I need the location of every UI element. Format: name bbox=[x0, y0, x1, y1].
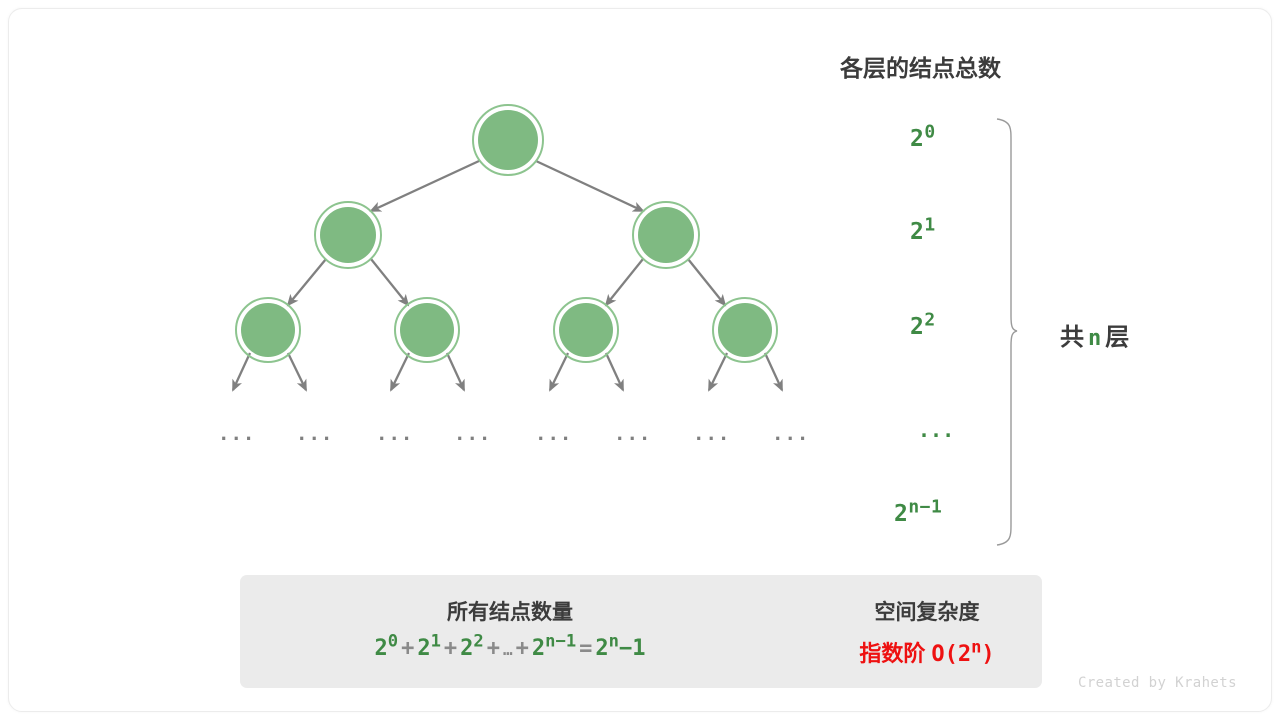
formula-plus: + bbox=[513, 636, 532, 661]
tree-ellipsis: ... bbox=[772, 423, 809, 445]
formula-equals: = bbox=[576, 636, 595, 661]
total-layers-label: 共n层 bbox=[1060, 317, 1129, 352]
tree-ellipsis: ... bbox=[376, 423, 413, 445]
level-label-ellipsis: ... bbox=[918, 418, 954, 442]
tree-ellipsis: ... bbox=[535, 423, 572, 445]
level-label-1: 21 bbox=[910, 219, 936, 245]
complexity-bigo: O(2n) bbox=[925, 642, 994, 667]
level-label-2: 22 bbox=[910, 314, 936, 340]
panel-right-title: 空间复杂度 bbox=[812, 596, 1042, 626]
layer-variable: n bbox=[1084, 326, 1105, 351]
summary-panel bbox=[240, 575, 1042, 688]
panel-left-title: 所有结点数量 bbox=[240, 596, 780, 626]
panel-formula: 20+21+22+…+2n−1=2n−1 bbox=[240, 636, 780, 661]
tree-ellipsis: ... bbox=[296, 423, 333, 445]
tree-ellipsis: ... bbox=[693, 423, 730, 445]
formula-term-last: 2n−1 bbox=[532, 636, 576, 661]
formula-term-1: 21 bbox=[417, 636, 441, 661]
formula-plus: + bbox=[441, 636, 460, 661]
level-label-last: 2n−1 bbox=[894, 501, 942, 527]
formula-term-2: 22 bbox=[460, 636, 484, 661]
levels-column-title: 各层的结点总数 bbox=[840, 49, 1001, 83]
formula-ellipsis: … bbox=[503, 640, 513, 659]
level-label-0: 20 bbox=[910, 126, 936, 152]
tree-ellipsis: ... bbox=[454, 423, 491, 445]
formula-term-0: 20 bbox=[374, 636, 398, 661]
panel-right-value: 指数阶O(2n) bbox=[812, 636, 1042, 668]
credit-text: Created by Krahets bbox=[1078, 675, 1237, 691]
tree-ellipsis: ... bbox=[218, 423, 255, 445]
formula-plus: + bbox=[398, 636, 417, 661]
diagram-canvas: 各层的结点总数 20 21 22 ... 2n−1 共n层 ... ... ..… bbox=[0, 0, 1280, 720]
formula-result: 2n−1 bbox=[595, 636, 645, 661]
formula-plus: + bbox=[484, 636, 503, 661]
complexity-class-label: 指数阶 bbox=[859, 641, 925, 666]
tree-ellipsis: ... bbox=[614, 423, 651, 445]
